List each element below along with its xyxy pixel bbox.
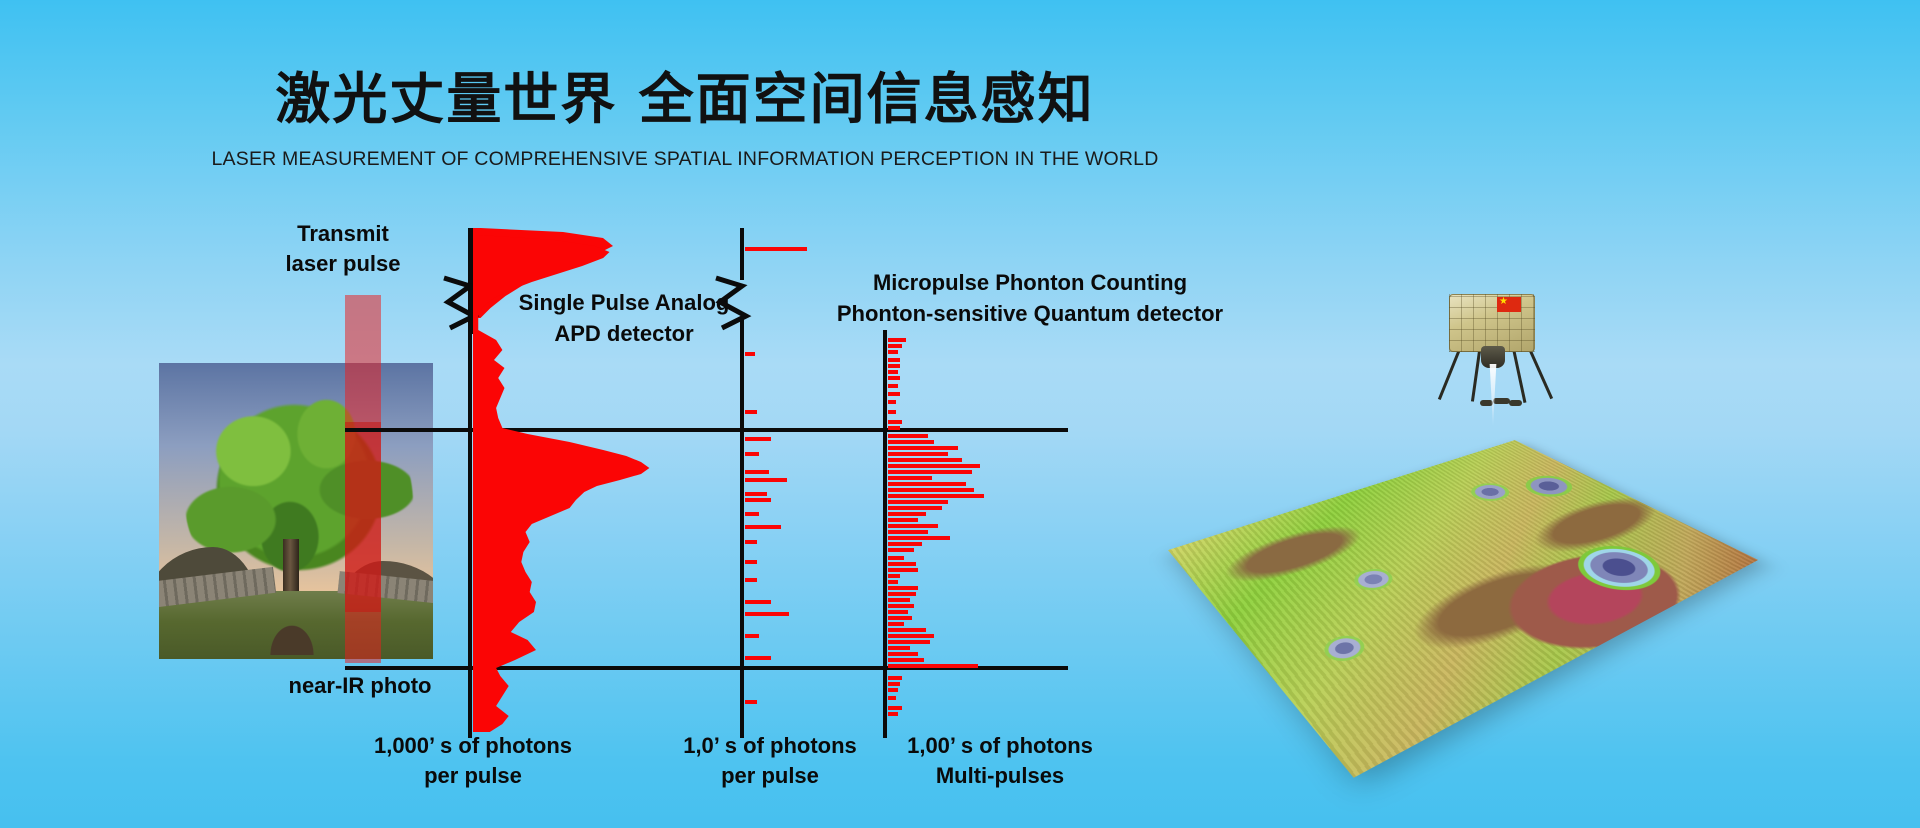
photon-return-bar bbox=[888, 518, 918, 522]
photon-return-bar bbox=[888, 464, 980, 468]
photon-return-bar bbox=[888, 392, 900, 396]
photon-return-bar bbox=[888, 586, 918, 590]
photon-return-bar bbox=[888, 622, 904, 626]
apd-chart-axis-lower bbox=[468, 318, 472, 738]
china-flag-icon bbox=[1497, 297, 1521, 312]
photon-return-bar bbox=[745, 578, 757, 582]
photon-return-bar bbox=[888, 458, 962, 462]
dense-chart-axis bbox=[883, 330, 887, 738]
photon-return-bar bbox=[888, 568, 918, 572]
lunar-lander bbox=[1435, 294, 1551, 406]
laser-beam-canopy-return bbox=[345, 422, 381, 612]
photon-return-bar bbox=[888, 658, 924, 662]
photon-return-bar bbox=[888, 488, 974, 492]
photon-return-bar bbox=[888, 476, 932, 480]
photon-return-bar bbox=[888, 646, 910, 650]
photon-return-bar bbox=[888, 696, 896, 700]
photon-return-bar bbox=[888, 548, 914, 552]
sparse-chart-axis-lower bbox=[740, 318, 744, 738]
photon-return-bar bbox=[888, 542, 922, 546]
photon-return-bar bbox=[745, 540, 757, 544]
photon-return-bar bbox=[888, 470, 972, 474]
lander-foot-1 bbox=[1480, 400, 1493, 406]
photon-return-bar bbox=[745, 410, 757, 414]
3d-elevation-surface bbox=[1168, 440, 1758, 778]
photon-return-bar bbox=[888, 706, 902, 710]
photon-return-bar bbox=[745, 700, 757, 704]
photon-return-bar bbox=[888, 562, 916, 566]
near-ir-tree-photo bbox=[159, 363, 433, 659]
photon-return-bar bbox=[888, 364, 900, 368]
photon-return-bar bbox=[888, 640, 930, 644]
photon-return-bar bbox=[888, 634, 934, 638]
photon-return-bar bbox=[888, 358, 900, 362]
photon-return-bar bbox=[888, 446, 958, 450]
photon-return-bar bbox=[888, 628, 926, 632]
photon-return-bar bbox=[888, 452, 948, 456]
photon-return-bar bbox=[888, 580, 898, 584]
photon-return-bar bbox=[888, 682, 900, 686]
photon-return-bar bbox=[888, 616, 912, 620]
photon-return-bar bbox=[888, 556, 904, 560]
photon-return-bar bbox=[888, 370, 898, 374]
photon-return-bar bbox=[888, 420, 902, 424]
photon-return-bar bbox=[745, 612, 789, 616]
photon-return-bar bbox=[745, 352, 755, 356]
photon-return-bar bbox=[888, 598, 910, 602]
laser-altimeter-beam bbox=[1487, 364, 1499, 426]
photon-return-bar bbox=[888, 676, 902, 680]
photon-return-bar bbox=[888, 506, 942, 510]
tree-base bbox=[267, 621, 317, 655]
photon-return-bar bbox=[888, 344, 902, 348]
photon-return-bar bbox=[888, 440, 934, 444]
dense-photon-bars bbox=[888, 330, 1078, 740]
photon-return-bar bbox=[745, 247, 807, 251]
apd-waveform bbox=[473, 228, 733, 740]
photon-return-bar bbox=[888, 376, 900, 380]
photon-return-bar bbox=[745, 634, 759, 638]
photon-return-bar bbox=[745, 560, 757, 564]
photon-return-bar bbox=[888, 592, 916, 596]
caption-multi-pulse: 1,00’ s of photons Multi-pulses bbox=[880, 731, 1120, 791]
poster-canvas: 激光丈量世界 全面空间信息感知 LASER MEASUREMENT OF COM… bbox=[0, 0, 1920, 828]
photon-return-bar bbox=[745, 478, 787, 482]
photon-return-bar bbox=[888, 530, 928, 534]
photon-return-bar bbox=[888, 610, 908, 614]
photon-return-bar bbox=[745, 656, 771, 660]
photon-return-bar bbox=[745, 470, 769, 474]
photon-return-bar bbox=[888, 338, 906, 342]
photon-return-bar bbox=[888, 688, 898, 692]
photon-return-bar bbox=[888, 482, 966, 486]
lander-solar-panel-grid bbox=[1449, 294, 1535, 352]
photon-return-bar bbox=[888, 350, 898, 354]
page-subtitle: LASER MEASUREMENT OF COMPREHENSIVE SPATI… bbox=[0, 148, 1370, 171]
photon-return-bar bbox=[745, 492, 767, 496]
photon-return-bar bbox=[888, 664, 978, 668]
lander-foot-4 bbox=[1509, 400, 1522, 406]
photon-return-bar bbox=[888, 426, 900, 430]
photon-return-bar bbox=[888, 524, 938, 528]
lidar-terrain-illustration bbox=[1190, 290, 1830, 760]
photon-return-bar bbox=[888, 536, 950, 540]
photon-return-bar bbox=[888, 494, 984, 498]
photon-return-bar bbox=[745, 452, 759, 456]
photon-return-bar bbox=[888, 512, 926, 516]
photon-return-bar bbox=[888, 604, 914, 608]
lander-leg-3 bbox=[1511, 344, 1526, 403]
photon-return-bar bbox=[888, 652, 918, 656]
sparse-photon-bars bbox=[745, 228, 885, 740]
photon-return-bar bbox=[888, 434, 928, 438]
photon-return-bar bbox=[888, 574, 900, 578]
photon-return-bar bbox=[888, 410, 896, 414]
photon-return-bar bbox=[745, 498, 771, 502]
photon-return-bar bbox=[745, 600, 771, 604]
photon-return-bar bbox=[745, 512, 759, 516]
photon-return-bar bbox=[745, 437, 771, 441]
photon-return-bar bbox=[745, 525, 781, 529]
photon-return-bar bbox=[888, 384, 898, 388]
transmit-laser-pulse-label: Transmit laser pulse bbox=[243, 219, 443, 279]
photon-return-bar bbox=[888, 400, 896, 404]
page-title: 激光丈量世界 全面空间信息感知 bbox=[0, 54, 1370, 134]
near-ir-photo-label: near-IR photo bbox=[240, 672, 480, 699]
photon-return-bar bbox=[888, 500, 948, 504]
photon-return-bar bbox=[888, 712, 898, 716]
